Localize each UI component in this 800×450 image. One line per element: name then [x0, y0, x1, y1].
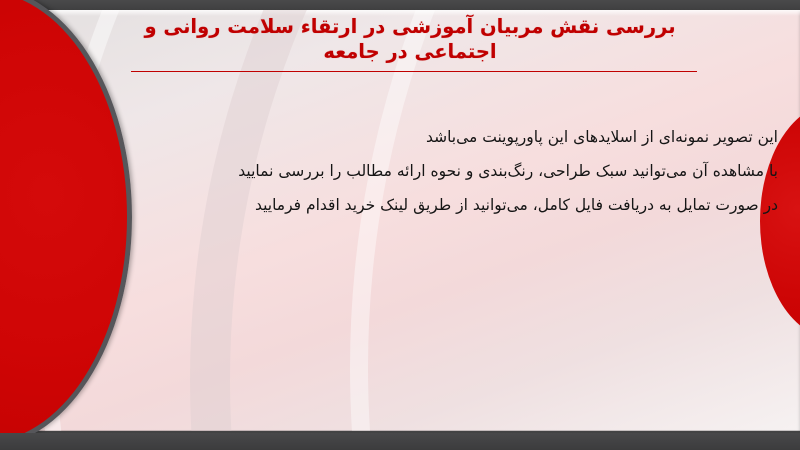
slide-title: بررسی نقش مربیان آموزشی در ارتقاء سلامت …: [120, 14, 700, 64]
body-line-3: در صورت تمایل به دریافت فایل کامل، می‌تو…: [78, 188, 778, 222]
arc-band-8: [350, 10, 800, 435]
body-line-2: با مشاهده آن می‌توانید سبک طراحی، رنگ‌بن…: [78, 154, 778, 188]
body-line-1: این تصویر نمونه‌ای از اسلایدهای این پاور…: [78, 120, 778, 154]
slide-body: این تصویر نمونه‌ای از اسلایدهای این پاور…: [78, 120, 778, 222]
frame-bottom-band: [0, 433, 800, 450]
title-line-1: بررسی نقش مربیان آموزشی در ارتقاء سلامت …: [120, 14, 700, 39]
arc-band-6: [40, 10, 800, 435]
arc-band-7: [190, 10, 800, 435]
slide-canvas: بررسی نقش مربیان آموزشی در ارتقاء سلامت …: [0, 0, 800, 450]
frame-top-band: [0, 0, 800, 11]
title-underline: [131, 71, 697, 72]
title-line-2: اجتماعی در جامعه: [120, 39, 700, 64]
